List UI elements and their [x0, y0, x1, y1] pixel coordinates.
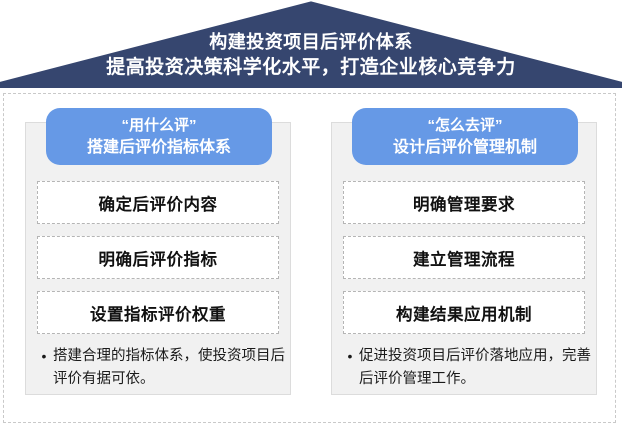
step-box[interactable]: 设置指标评价权重 — [37, 291, 279, 334]
badge-left-line2: 搭建后评价指标体系 — [87, 137, 231, 159]
roof-banner: 构建投资项目后评价体系 提高投资决策科学化水平，打造企业核心竞争力 — [0, 0, 622, 88]
note-left: • 搭建合理的指标体系，使投资项目后评价有据可依。 — [35, 345, 285, 391]
bullet-icon: • — [35, 345, 53, 368]
roof-triangle-shape — [0, 0, 622, 88]
column-header-badge-left[interactable]: “用什么评” 搭建后评价指标体系 — [46, 108, 272, 165]
step-list-left: 确定后评价内容 明确后评价指标 设置指标评价权重 — [37, 181, 279, 346]
columns-container: “用什么评” 搭建后评价指标体系 确定后评价内容 明确后评价指标 设置指标评价权… — [0, 93, 622, 423]
note-right-text: 促进投资项目后评价落地应用，完善后评价管理工作。 — [359, 345, 591, 391]
note-right: • 促进投资项目后评价落地应用，完善后评价管理工作。 — [341, 345, 591, 391]
step-box[interactable]: 明确管理要求 — [343, 181, 585, 224]
note-left-text: 搭建合理的指标体系，使投资项目后评价有据可依。 — [53, 345, 285, 391]
step-box[interactable]: 明确后评价指标 — [37, 236, 279, 279]
badge-right-line2: 设计后评价管理机制 — [393, 137, 537, 159]
column-header-badge-right[interactable]: “怎么去评” 设计后评价管理机制 — [352, 108, 578, 165]
bullet-icon: • — [341, 345, 359, 368]
badge-right-line1: “怎么去评” — [427, 115, 502, 137]
column-indicator-system: “用什么评” 搭建后评价指标体系 确定后评价内容 明确后评价指标 设置指标评价权… — [25, 93, 291, 423]
step-list-right: 明确管理要求 建立管理流程 构建结果应用机制 — [343, 181, 585, 346]
slide-canvas: 构建投资项目后评价体系 提高投资决策科学化水平，打造企业核心竞争力 “用什么评”… — [0, 0, 622, 432]
step-box[interactable]: 确定后评价内容 — [37, 181, 279, 224]
step-box[interactable]: 构建结果应用机制 — [343, 291, 585, 334]
badge-left-line1: “用什么评” — [121, 115, 196, 137]
step-box[interactable]: 建立管理流程 — [343, 236, 585, 279]
column-management-mechanism: “怎么去评” 设计后评价管理机制 明确管理要求 建立管理流程 构建结果应用机制 … — [331, 93, 597, 423]
